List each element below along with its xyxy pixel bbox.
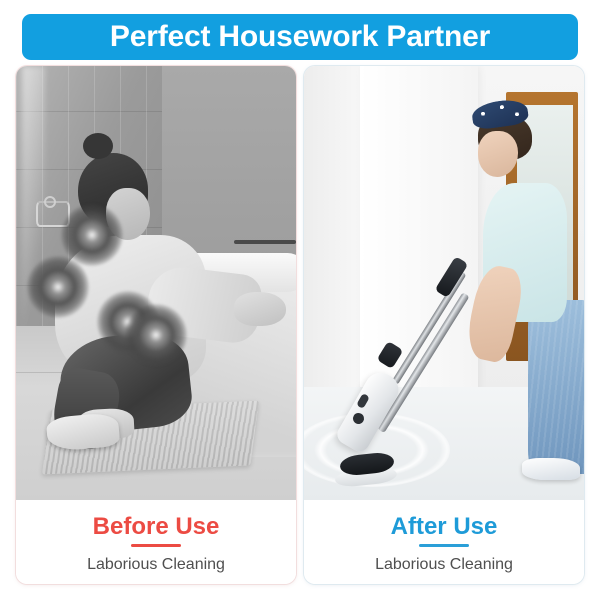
comparison-cards: Before Use Laborious Cleaning [16, 66, 584, 584]
before-photo [16, 66, 296, 500]
cleaning-glove [234, 292, 286, 326]
woman-jeans [528, 300, 584, 474]
before-subtitle: Laborious Cleaning [87, 556, 225, 574]
before-card: Before Use Laborious Cleaning [16, 66, 296, 584]
woman-face [478, 131, 518, 177]
after-card: After Use Laborious Cleaning [304, 66, 584, 584]
before-title: Before Use [93, 514, 220, 539]
woman-face [106, 188, 150, 240]
after-underline [419, 544, 469, 547]
woman-sneaker [522, 458, 580, 480]
page-title: Perfect Housework Partner [110, 22, 490, 52]
towel-ring [36, 201, 70, 227]
header-banner: Perfect Housework Partner [22, 14, 578, 60]
after-caption: After Use Laborious Cleaning [304, 500, 584, 584]
after-title: After Use [391, 514, 498, 539]
before-underline [131, 544, 181, 547]
product-comparison-page: Perfect Housework Partner [0, 0, 600, 600]
wall-ledge [234, 240, 296, 244]
before-caption: Before Use Laborious Cleaning [16, 500, 296, 584]
after-photo [304, 66, 584, 500]
after-subtitle: Laborious Cleaning [375, 556, 513, 574]
